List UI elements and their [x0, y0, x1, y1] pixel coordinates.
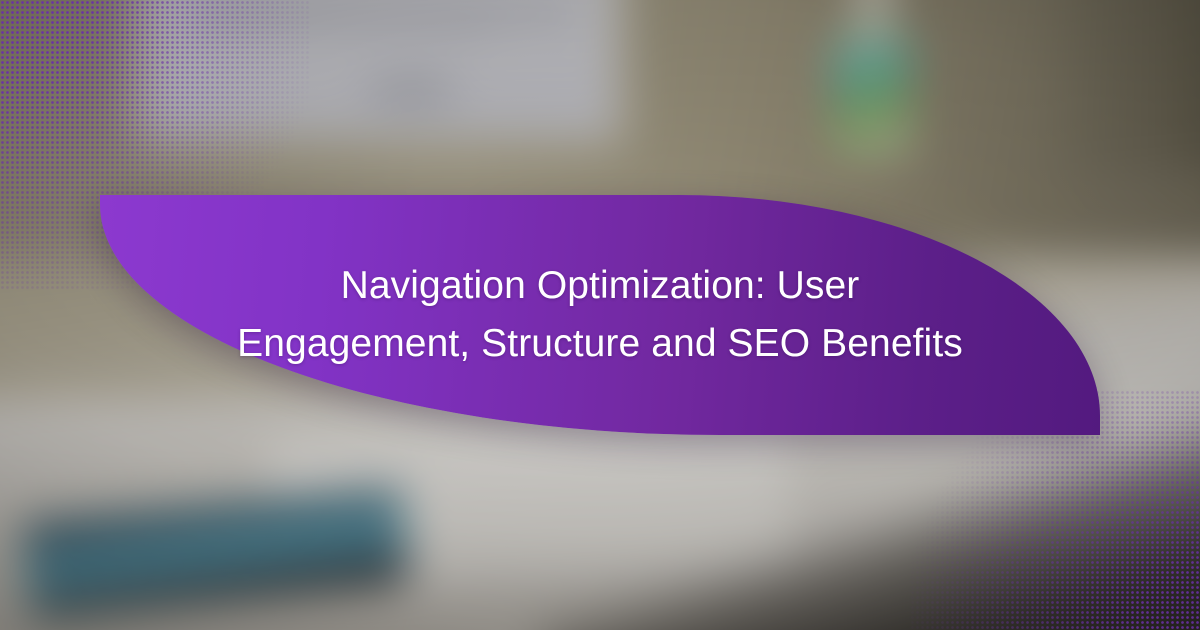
page-title: Navigation Optimization: User Engagement… [100, 257, 1100, 372]
og-image-card: Navigation Optimization: User Engagement… [0, 0, 1200, 630]
